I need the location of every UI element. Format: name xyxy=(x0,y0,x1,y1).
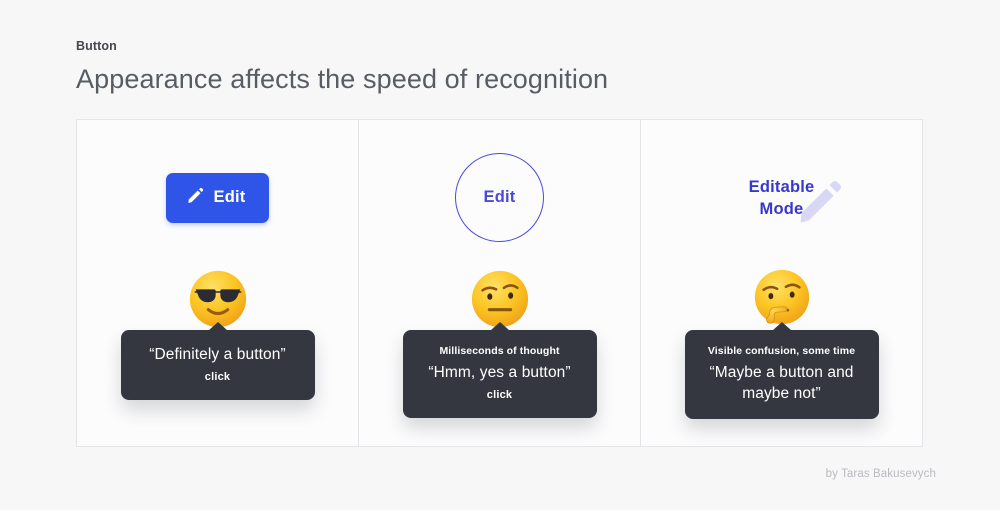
tooltip-wrap-3: Visible confusion, some time “Maybe a bu… xyxy=(641,330,922,419)
control-area-2: Edit xyxy=(359,120,640,275)
tooltip-wrap-1: “Definitely a button” click xyxy=(77,330,358,400)
face-with-raised-eyebrow-emoji xyxy=(469,268,531,330)
author-credit: by Taras Bakusevych xyxy=(826,468,936,480)
reaction-tooltip-3: Visible confusion, some time “Maybe a bu… xyxy=(685,330,879,419)
control-area-1: Edit xyxy=(77,120,358,275)
control-area-3: Editable Mode xyxy=(641,120,922,275)
thinking-face-emoji xyxy=(751,268,813,330)
smiling-face-with-sunglasses-emoji xyxy=(187,268,249,330)
page-eyebrow: Button xyxy=(76,38,608,54)
tooltip-1-action-label: click xyxy=(143,370,293,385)
pencil-icon xyxy=(186,186,205,210)
tooltip-3-main-text: “Maybe a button and maybe not” xyxy=(707,362,857,404)
reaction-tooltip-1: “Definitely a button” click xyxy=(121,330,315,400)
edit-button-circle-label: Edit xyxy=(484,188,516,207)
edit-button-filled[interactable]: Edit xyxy=(166,173,270,223)
tooltip-wrap-2: Milliseconds of thought “Hmm, yes a butt… xyxy=(359,330,640,418)
tooltip-2-action-label: click xyxy=(425,388,575,403)
edit-button-circle[interactable]: Edit xyxy=(455,153,544,242)
tooltip-2-small-label: Milliseconds of thought xyxy=(425,344,575,358)
panel-text-only-button: Editable Mode xyxy=(640,120,922,446)
tooltip-2-main-text: “Hmm, yes a button” xyxy=(425,362,575,383)
page-header: Button Appearance affects the speed of r… xyxy=(76,38,608,97)
reaction-tooltip-2: Milliseconds of thought “Hmm, yes a butt… xyxy=(403,330,597,418)
comparison-card: Edit “Def xyxy=(76,119,923,447)
edit-button-filled-label: Edit xyxy=(214,188,246,207)
tooltip-3-small-label: Visible confusion, some time xyxy=(707,344,857,358)
editable-mode-button[interactable]: Editable Mode xyxy=(749,176,815,220)
tooltip-1-main-text: “Definitely a button” xyxy=(143,344,293,365)
page-title: Appearance affects the speed of recognit… xyxy=(76,61,608,97)
panel-filled-button: Edit “Def xyxy=(77,120,358,446)
panel-outline-circle-button: Edit Mill xyxy=(358,120,640,446)
